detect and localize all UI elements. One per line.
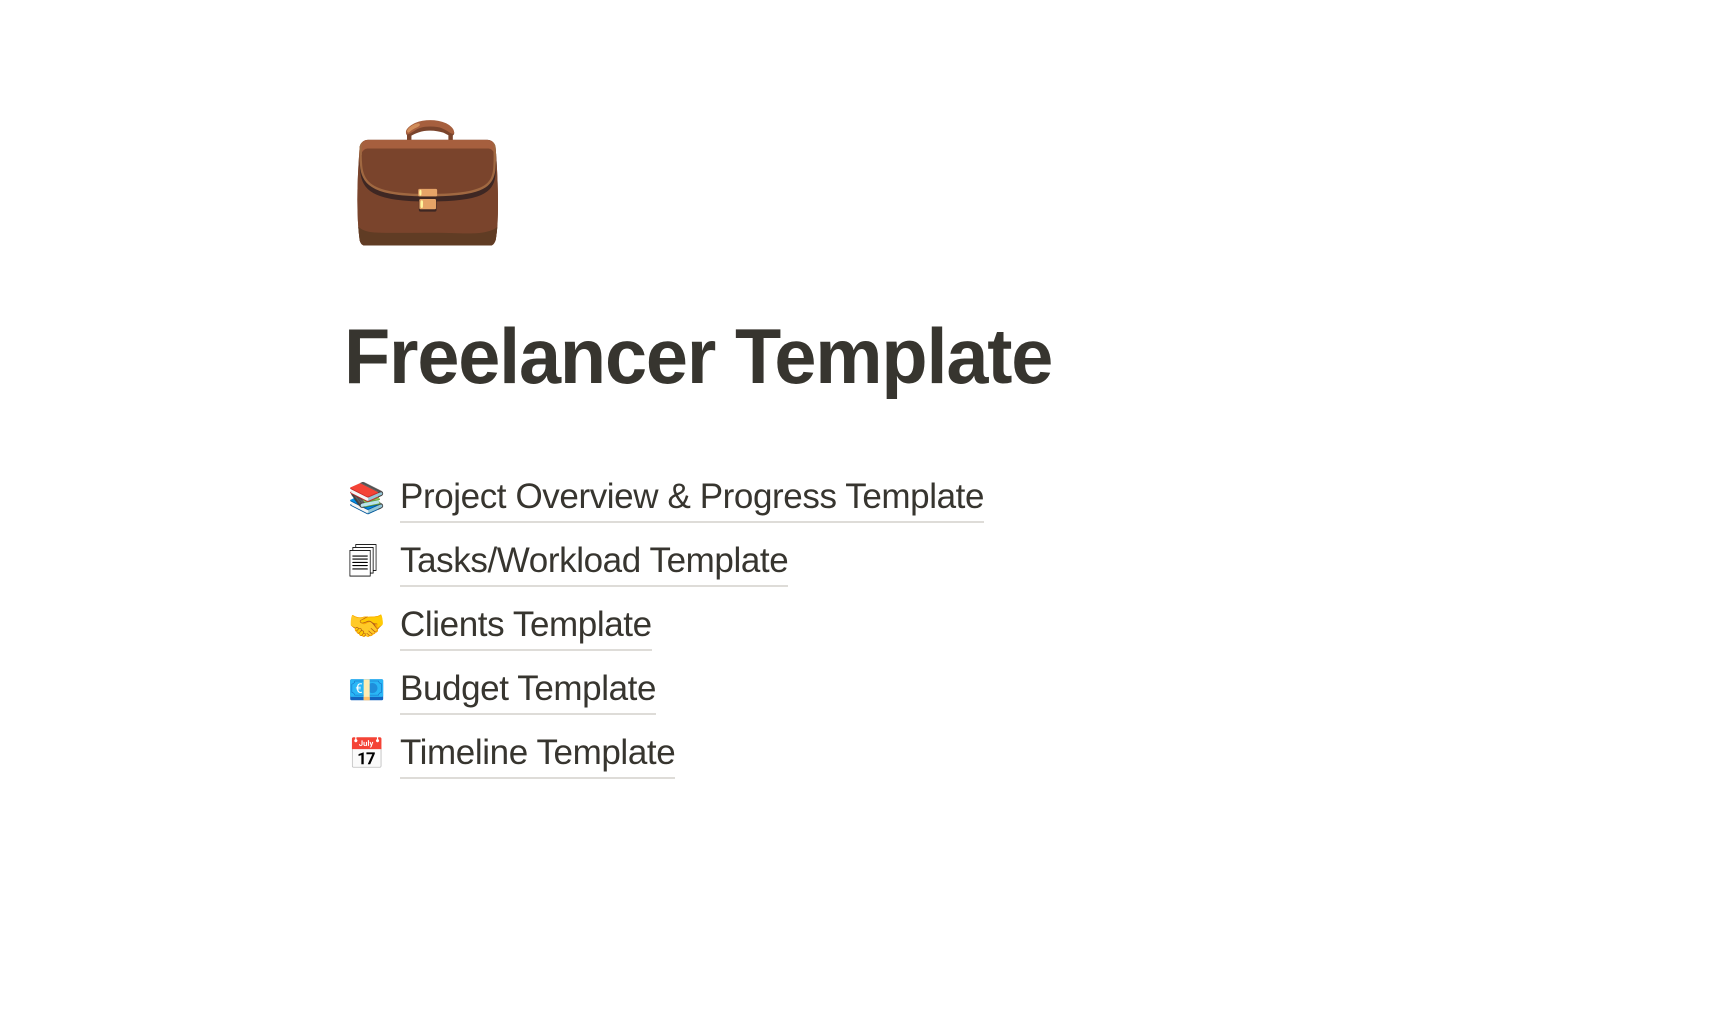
- euro-banknote-icon: 💶: [348, 674, 400, 708]
- link-project-overview-progress-template[interactable]: Project Overview & Progress Template: [400, 476, 984, 523]
- link-budget-template[interactable]: Budget Template: [400, 668, 656, 715]
- list-item: 📅 Timeline Template: [348, 726, 1348, 784]
- pages-icon: 🗐: [348, 546, 400, 580]
- page-title: Freelancer Template: [344, 310, 1052, 402]
- list-item: 🤝 Clients Template: [348, 598, 1348, 656]
- link-clients-template[interactable]: Clients Template: [400, 604, 652, 651]
- link-timeline-template[interactable]: Timeline Template: [400, 732, 675, 779]
- list-item: 💶 Budget Template: [348, 662, 1348, 720]
- calendar-icon: 📅: [348, 738, 400, 772]
- link-tasks-workload-template[interactable]: Tasks/Workload Template: [400, 540, 788, 587]
- template-link-list: 📚 Project Overview & Progress Template 🗐…: [348, 470, 1348, 790]
- document-page: 💼 Freelancer Template 📚 Project Overview…: [0, 0, 1734, 1024]
- list-item: 📚 Project Overview & Progress Template: [348, 470, 1348, 528]
- books-icon: 📚: [348, 482, 400, 516]
- briefcase-icon[interactable]: 💼: [348, 112, 507, 240]
- handshake-icon: 🤝: [348, 610, 400, 644]
- list-item: 🗐 Tasks/Workload Template: [348, 534, 1348, 592]
